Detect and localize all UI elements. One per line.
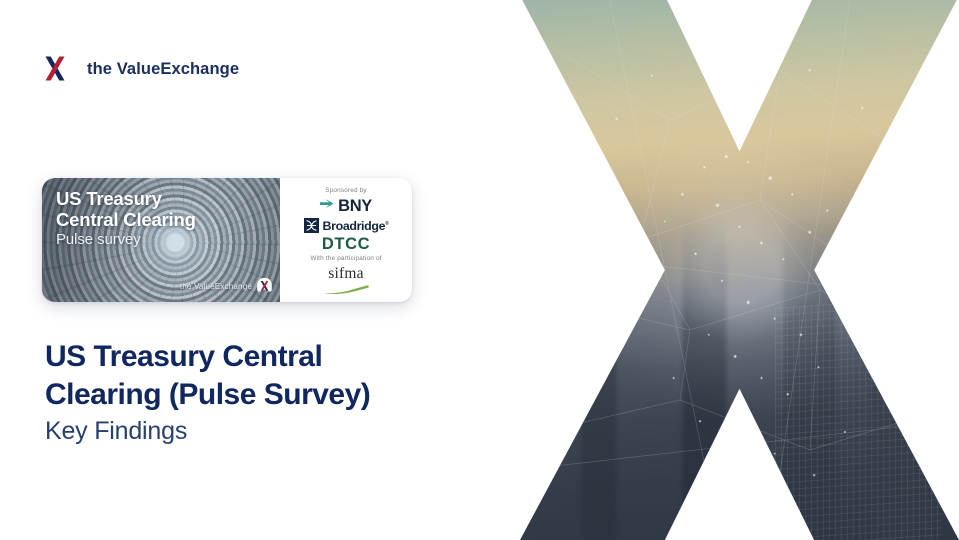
brand-lockup[interactable]: the ValueExchange: [34, 46, 239, 92]
survey-cover-card[interactable]: US Treasury Central Clearing Pulse surve…: [42, 178, 412, 302]
page-title: US Treasury Central Clearing (Pulse Surv…: [45, 338, 465, 414]
sponsors-panel: Sponsored by BNY Broadridge®: [280, 178, 412, 302]
hero-photo-masked: [520, 0, 959, 540]
cover-subtitle: Pulse survey: [56, 231, 272, 249]
sponsor-logo-bny: BNY: [320, 197, 372, 215]
sponsor-logo-sifma: sifma: [323, 266, 369, 299]
sifma-wordmark: sifma: [323, 266, 369, 281]
slide-root: the ValueExchange US Treasury Central Cl…: [0, 0, 959, 540]
participation-caption: With the participation of: [310, 255, 381, 263]
sponsor-logo-broadridge: Broadridge®: [304, 218, 389, 233]
valueexchange-x-logo-icon: [34, 47, 76, 91]
headline-block: US Treasury Central Clearing (Pulse Surv…: [45, 338, 465, 447]
cover-photo: US Treasury Central Clearing Pulse surve…: [42, 178, 280, 302]
cover-title-line1: US Treasury: [56, 188, 272, 209]
cover-title-line2: Central Clearing: [56, 209, 272, 230]
broadridge-wordmark: Broadridge®: [323, 218, 389, 233]
sponsored-by-caption: Sponsored by: [325, 187, 367, 195]
cover-credit: the ValueExchange: [180, 277, 273, 295]
hero-x-panel: [520, 0, 959, 540]
sifma-swoosh-icon: [323, 281, 369, 299]
brand-name: the ValueExchange: [87, 60, 239, 79]
cover-credit-text: the ValueExchange: [180, 282, 252, 291]
cover-text-block: US Treasury Central Clearing Pulse surve…: [56, 188, 272, 249]
network-nodes-graphic: [520, 0, 959, 540]
bny-wordmark: BNY: [338, 198, 372, 214]
sponsor-logo-dtcc: DTCC: [322, 236, 370, 253]
page-title-line1: US Treasury Central: [45, 340, 322, 373]
broadridge-text: Broadridge: [323, 219, 386, 233]
valueexchange-x-badge-icon: [256, 277, 273, 295]
bny-arrow-icon: [320, 197, 334, 215]
broadridge-trademark: ®: [385, 221, 388, 227]
page-title-line2: Clearing (Pulse Survey): [45, 378, 370, 411]
broadridge-square-icon: [304, 218, 319, 233]
page-subtitle: Key Findings: [45, 416, 465, 447]
